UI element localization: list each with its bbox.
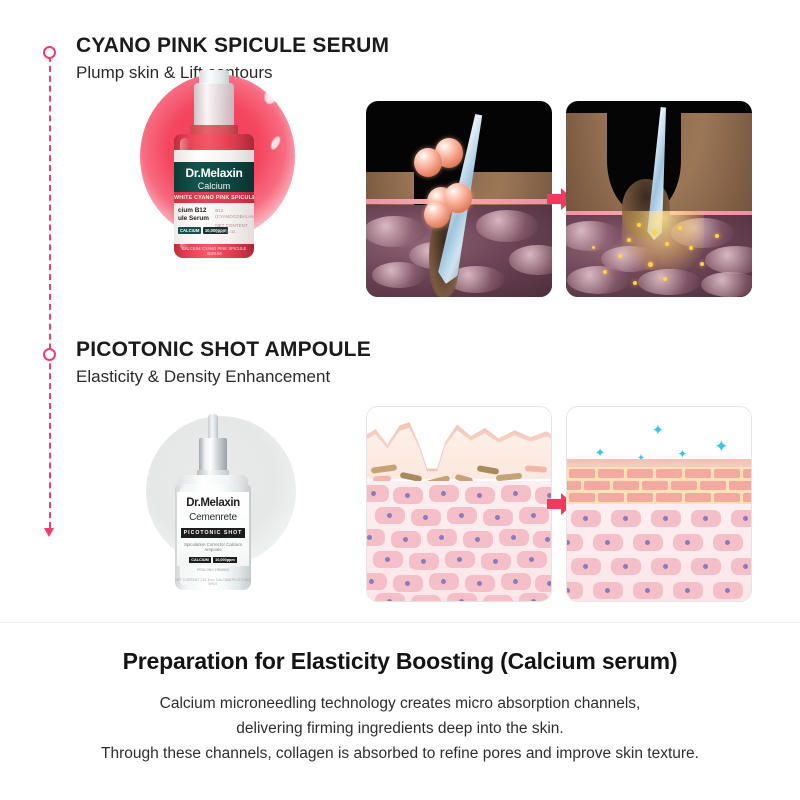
tissue-lobule	[705, 246, 752, 274]
gold-ingredient-particle	[618, 254, 622, 258]
label-net-value: 1.01 fl. oz.	[215, 229, 252, 235]
skin-scene-after: ✦ ✦ ✦ ✦ ✦ ✦ ✦ ✦ ✦ ✦	[567, 407, 751, 601]
panel-needle-entering-pore	[366, 101, 552, 297]
section-2-subtitle: Elasticity & Density Enhancement	[76, 367, 371, 387]
gold-ingredient-particle	[637, 223, 641, 227]
label-top-band	[174, 150, 254, 162]
label-claim-line-2: ule Serum	[178, 215, 213, 223]
sparkle-icon: ✦	[677, 448, 687, 460]
collagen-fiber	[477, 465, 500, 475]
spicule-particle	[424, 201, 450, 228]
timeline-rail	[41, 40, 59, 535]
gold-ingredient-particle	[665, 242, 669, 246]
tissue-lobule	[638, 269, 700, 295]
pump-collar	[194, 83, 234, 129]
label-chips: CALCIUM 10,000ppm	[177, 557, 249, 563]
gold-ingredient-particle	[648, 262, 653, 267]
tissue-lobule	[701, 272, 752, 297]
gold-ingredient-particle	[652, 230, 657, 235]
pore-scene-after	[566, 101, 752, 297]
tissue-lobule	[567, 266, 629, 294]
label-claim-line-1: cium B12	[178, 207, 213, 215]
label-footnote: NET CONTENT 1.01 fl.oz. CALCIUM PICOTONI…	[175, 578, 251, 586]
timeline-node-1	[43, 46, 56, 59]
collagen-fiber	[525, 465, 547, 473]
label-lower-block: cium B12 ule Serum CALCIUM 10,000ppm B12…	[174, 203, 254, 244]
label-brand-name: Dr.Melaxin	[174, 162, 254, 179]
label-product-strip: WHITE CYANO PINK SPICULE SERUM	[174, 192, 254, 203]
sparkle-icon: ✦	[714, 438, 728, 455]
ingredient-burst-glow	[622, 211, 704, 270]
tissue-lobule	[476, 210, 538, 241]
footer-line-1: Calcium microneedling technology creates…	[0, 691, 800, 716]
timeline-dashed-line	[49, 46, 51, 528]
label-claim-left: cium B12 ule Serum CALCIUM 10,000ppm	[174, 203, 213, 244]
footer-body: Calcium microneedling technology creates…	[0, 691, 800, 766]
label-product-line: Cemenrete	[177, 510, 249, 523]
label-product-line: Calcium	[174, 179, 254, 191]
collagen-fiber	[370, 465, 397, 475]
footer-divider	[0, 622, 800, 623]
label-ingredient-inci: (CYANOCOBALAMIN)	[215, 214, 252, 220]
sparkle-icon: ✦	[652, 423, 665, 438]
section-2-title: PICOTONIC SHOT AMPOULE	[76, 338, 371, 362]
bottle-body: Dr.Melaxin Cemenrete PICOTONIC SHOT Spic…	[175, 484, 251, 590]
section-2-headings: PICOTONIC SHOT AMPOULE Elasticity & Dens…	[76, 338, 371, 388]
dermal-cell-zone	[567, 504, 751, 601]
label-description: Spiculation Corrector Calcium Ampoule	[177, 542, 249, 553]
tissue-lobule	[366, 216, 426, 247]
dropper-stem	[208, 414, 218, 440]
ampoule-bottle-white: Dr.Melaxin Cemenrete PICOTONIC SHOT Spic…	[164, 414, 264, 592]
gold-ingredient-particle	[603, 270, 607, 274]
timeline-node-2	[43, 348, 56, 361]
pore-scene-before	[366, 101, 552, 297]
product-image-cyano-pink-spicule-serum: Dr.Melaxin Calcium WHITE CYANO PINK SPIC…	[120, 66, 320, 266]
label-footnote: CALCIUM CYANO PINK SPICULE SERUM	[174, 246, 254, 256]
label-brand-name: Dr.Melaxin	[177, 492, 249, 510]
label-chip-ppm: 10,000ppm	[213, 557, 237, 563]
footer-block: Preparation for Elasticity Boosting (Cal…	[0, 648, 800, 766]
tissue-lobule	[509, 245, 552, 274]
label-product-band: PICOTONIC SHOT	[181, 528, 245, 538]
pump-head	[199, 70, 229, 84]
panel-ingredients-absorbed-in-pore	[566, 101, 752, 297]
label-badge-calcium: CALCIUM	[178, 227, 201, 234]
section-1-title: CYANO PINK SPICULE SERUM	[76, 34, 389, 58]
sparkle-icon: ✦	[595, 446, 606, 459]
footer-line-3: Through these channels, collagen is abso…	[0, 741, 800, 766]
product-image-picotonic-shot-ampoule: Dr.Melaxin Cemenrete PICOTONIC SHOT Spic…	[120, 402, 320, 602]
label-tiny-text: PROLONG FIRMING	[177, 568, 249, 572]
gold-ingredient-particle	[689, 246, 693, 250]
serum-bottle-pink: Dr.Melaxin Calcium WHITE CYANO PINK SPIC…	[166, 70, 262, 260]
dropper-cap	[199, 438, 227, 472]
label-claim-right: B12 (CYANOCOBALAMIN) NET CONTENT 1.01 fl…	[213, 203, 254, 244]
label-brand-block: Dr.Melaxin Calcium	[174, 162, 254, 192]
dermal-cell-zone	[367, 481, 551, 601]
panel-firm-dense-skin-cross-section: ✦ ✦ ✦ ✦ ✦ ✦ ✦ ✦ ✦ ✦	[566, 406, 752, 602]
footer-title: Preparation for Elasticity Boosting (Cal…	[0, 648, 800, 675]
arrow-down-icon	[44, 528, 54, 537]
label-badges: CALCIUM 10,000ppm	[178, 227, 213, 234]
bottle-label: Dr.Melaxin Cemenrete PICOTONIC SHOT Spic…	[177, 492, 249, 566]
tissue-lobule	[372, 262, 426, 288]
skin-scene-before	[367, 407, 551, 601]
footer-line-2: delivering firming ingredients deep into…	[0, 716, 800, 741]
gold-ingredient-particle	[700, 262, 704, 266]
bottle-body: Dr.Melaxin Calcium WHITE CYANO PINK SPIC…	[174, 134, 254, 258]
label-chip-calcium: CALCIUM	[189, 557, 211, 563]
collagen-brick-zone	[567, 467, 751, 506]
panel-wrinkled-skin-cross-section	[366, 406, 552, 602]
collagen-fiber-zone	[367, 444, 551, 483]
